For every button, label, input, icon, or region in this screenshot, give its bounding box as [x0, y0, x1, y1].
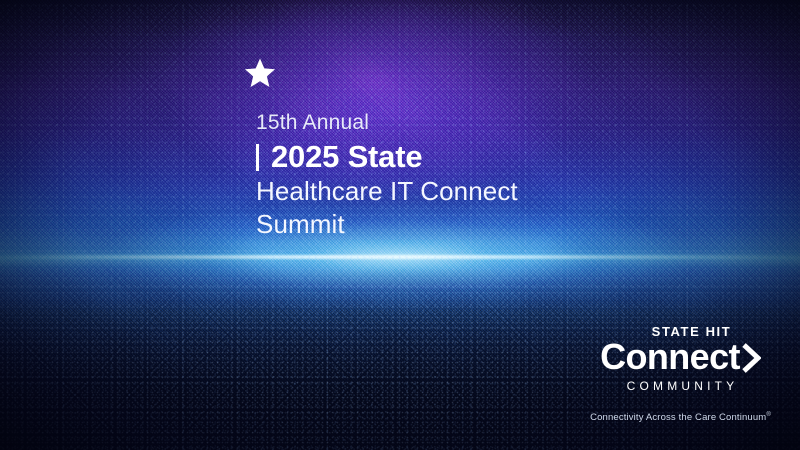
event-banner: 15th Annual 2025 State Healthcare IT Con… — [0, 0, 800, 450]
logo-descriptor: COMMUNITY — [583, 379, 778, 393]
brand-logo-lockup: STATE HIT Connect COMMUNITY Connectivity… — [583, 325, 778, 424]
headline-main-row: 2025 State — [256, 139, 518, 175]
headline-title-main: 2025 State — [271, 139, 422, 175]
accent-rule — [256, 144, 259, 171]
logo-tagline: Connectivity Across the Care Continuum® — [583, 409, 778, 424]
headline-title-line2: Healthcare IT Connect — [256, 175, 518, 208]
logo-wordmark: Connect — [600, 338, 740, 376]
logo-tagline-text: Connectivity Across the Care Continuum — [590, 412, 766, 423]
chevron-right-icon — [741, 343, 761, 373]
headline-title-line3: Summit — [256, 208, 518, 241]
registered-mark: ® — [766, 412, 771, 418]
headline-eyebrow: 15th Annual — [256, 108, 518, 138]
star-icon — [244, 57, 276, 89]
logo-wordmark-row: Connect — [583, 338, 778, 376]
event-headline: 15th Annual 2025 State Healthcare IT Con… — [256, 108, 518, 241]
